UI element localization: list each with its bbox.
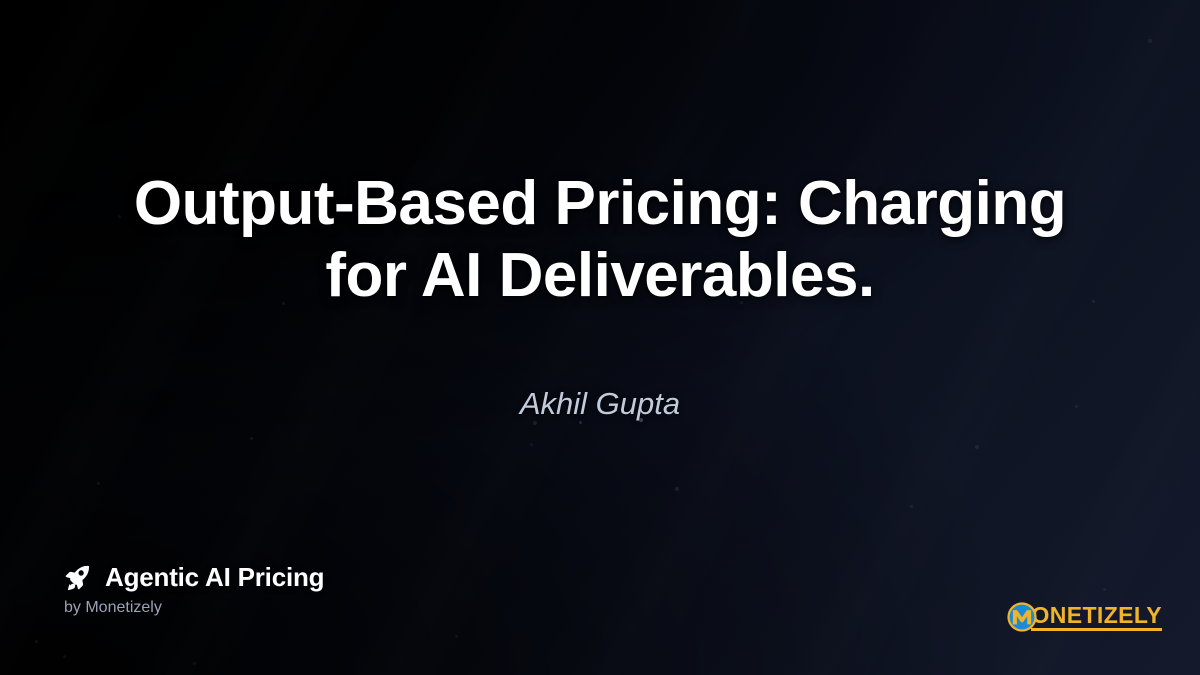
brand-name: Agentic AI Pricing	[105, 562, 324, 593]
brand-row: Agentic AI Pricing	[62, 562, 324, 593]
monetizely-wordmark: ONETIZELY	[1031, 603, 1162, 627]
presenter-name: Akhil Gupta	[150, 386, 1050, 422]
monetizely-logo-mark	[1006, 601, 1038, 633]
brand-block: Agentic AI Pricing by Monetizely	[62, 562, 324, 617]
monetizely-underline	[1031, 628, 1162, 631]
rocket-icon	[62, 563, 92, 593]
monetizely-logo: ONETIZELY	[1006, 601, 1162, 633]
slide-canvas: Output-Based Pricing: Charging for AI De…	[0, 0, 1200, 675]
brand-byline: by Monetizely	[64, 599, 324, 617]
monetizely-wordmark-wrap: ONETIZELY	[1031, 603, 1162, 631]
page-title: Output-Based Pricing: Charging for AI De…	[60, 168, 1140, 312]
